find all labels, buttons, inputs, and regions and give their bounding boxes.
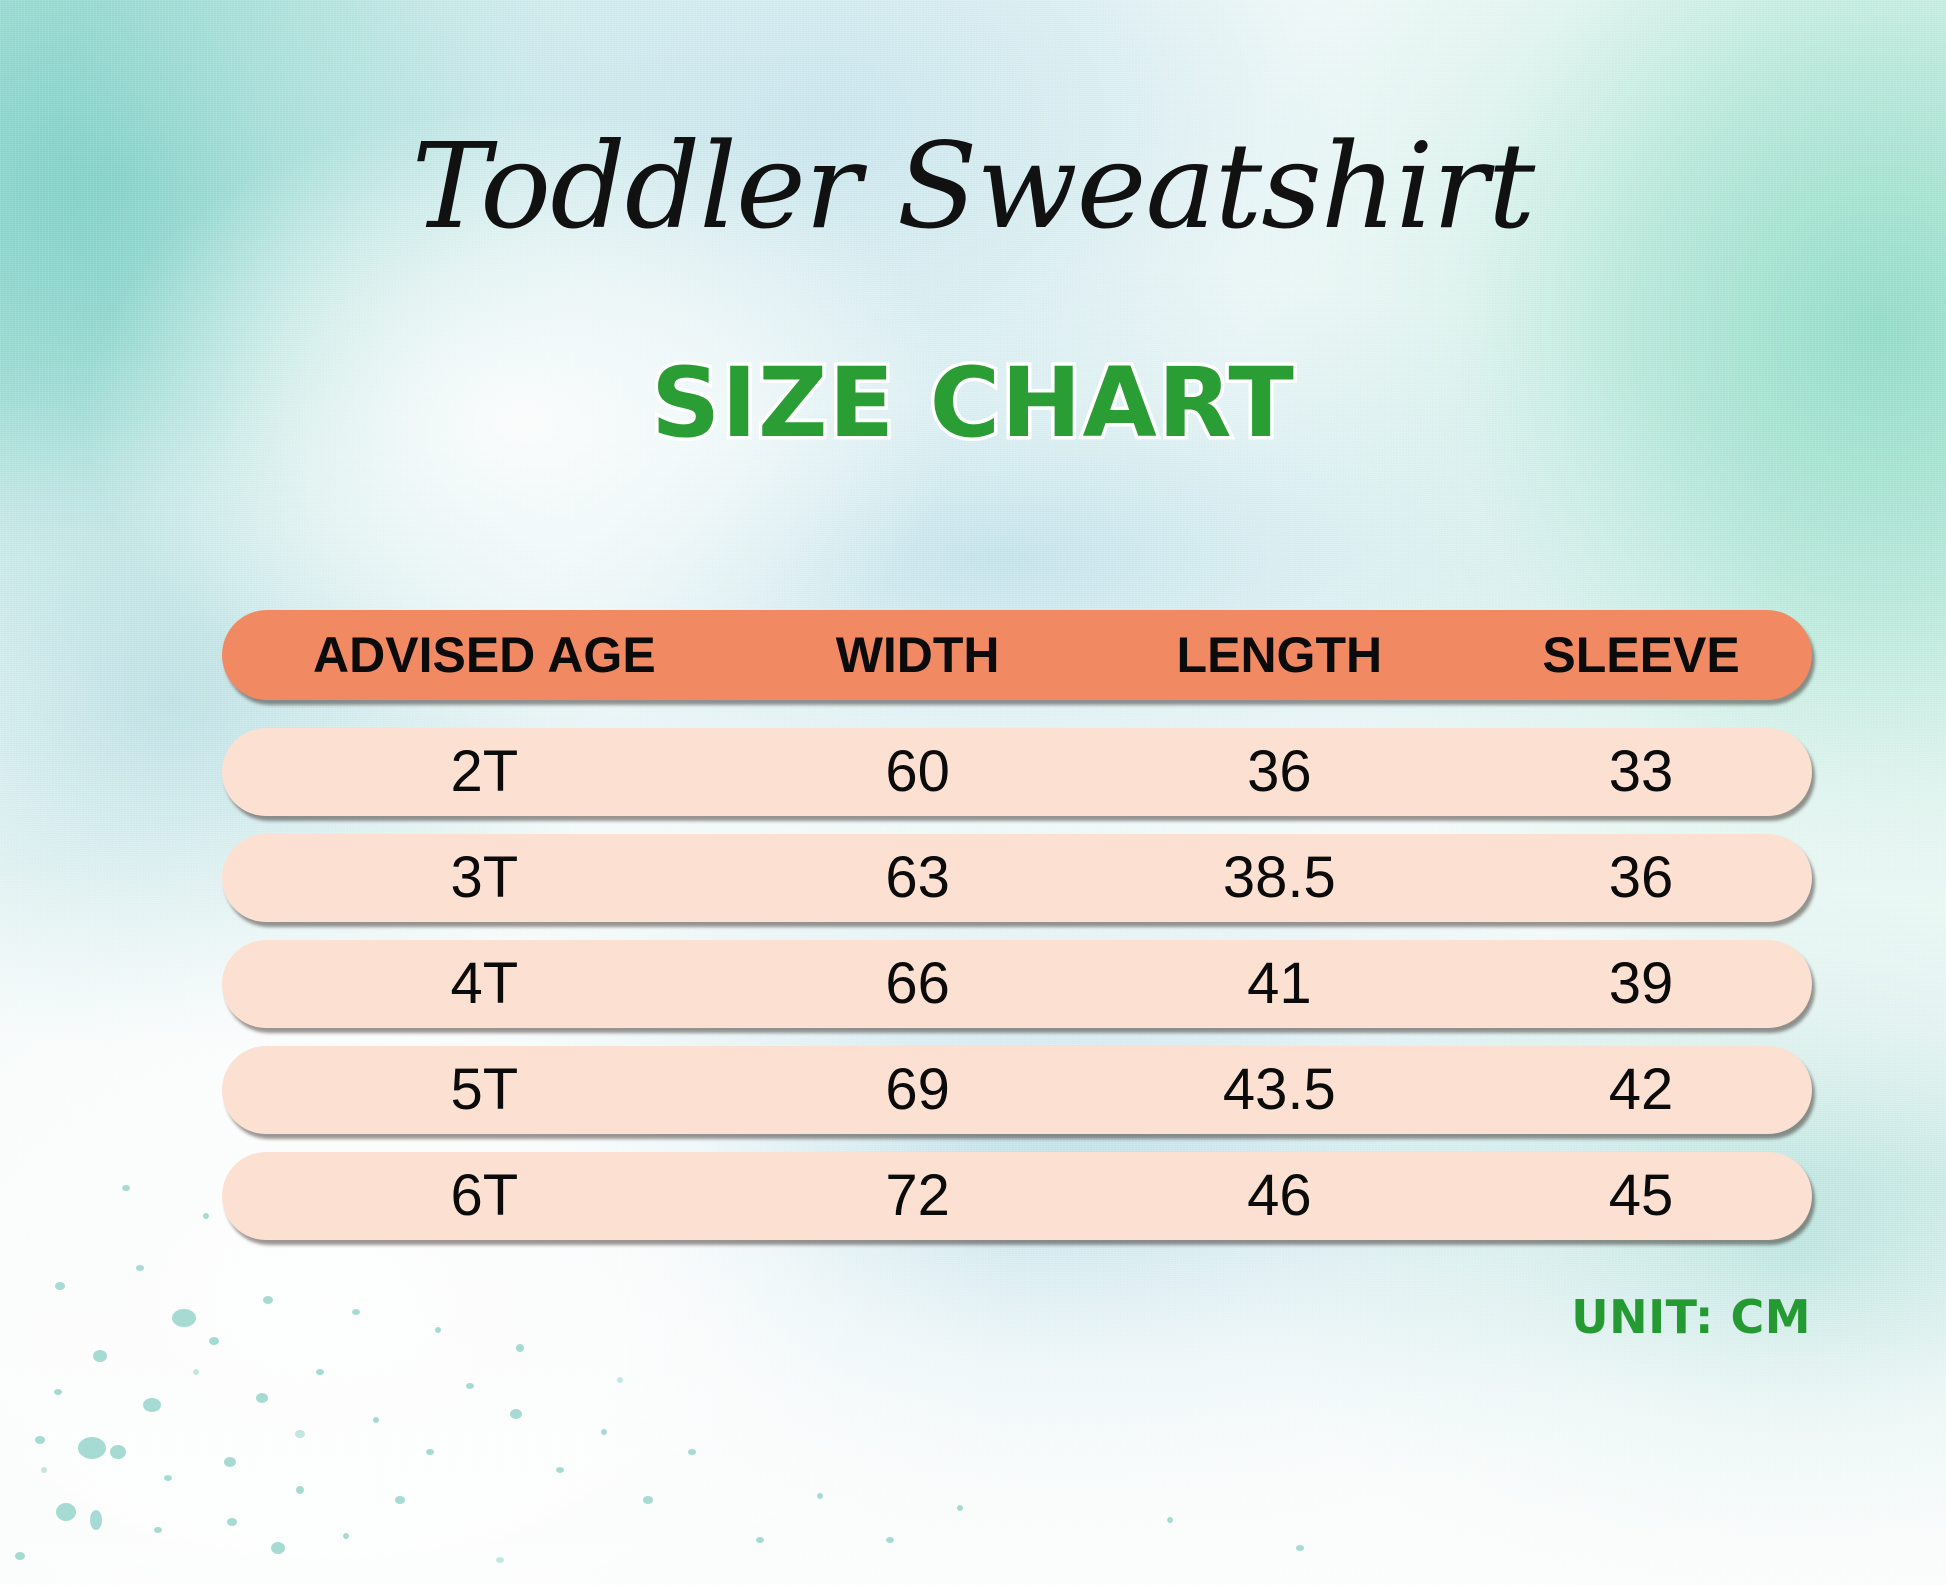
page-title: Toddler Sweatshirt xyxy=(0,125,1946,249)
cell-advised-age: 6T xyxy=(222,1167,747,1225)
table-row: 5T 69 43.5 42 xyxy=(222,1046,1812,1134)
cell-sleeve: 42 xyxy=(1470,1061,1812,1119)
cell-sleeve: 39 xyxy=(1470,955,1812,1013)
cell-advised-age: 5T xyxy=(222,1061,747,1119)
cell-length: 41 xyxy=(1089,955,1471,1013)
table-header-row: ADVISED AGE WIDTH LENGTH SLEEVE xyxy=(222,610,1812,700)
cell-length: 43.5 xyxy=(1089,1061,1471,1119)
cell-sleeve: 45 xyxy=(1470,1167,1812,1225)
cell-length: 38.5 xyxy=(1089,849,1471,907)
chart-content: Toddler Sweatshirt SIZE CHART ADVISED AG… xyxy=(0,0,1946,1585)
unit-note: UNIT: CM xyxy=(1571,1290,1811,1344)
cell-width: 72 xyxy=(747,1167,1089,1225)
table-row: 2T 60 36 33 xyxy=(222,728,1812,816)
cell-advised-age: 2T xyxy=(222,743,747,801)
size-chart-canvas: Toddler Sweatshirt SIZE CHART ADVISED AG… xyxy=(0,0,1946,1585)
cell-length: 36 xyxy=(1089,743,1471,801)
column-header-sleeve: SLEEVE xyxy=(1470,630,1812,680)
cell-sleeve: 33 xyxy=(1470,743,1812,801)
column-header-length: LENGTH xyxy=(1089,630,1471,680)
cell-length: 46 xyxy=(1089,1167,1471,1225)
cell-width: 69 xyxy=(747,1061,1089,1119)
table-row: 6T 72 46 45 xyxy=(222,1152,1812,1240)
size-chart-table: ADVISED AGE WIDTH LENGTH SLEEVE 2T 60 36… xyxy=(222,610,1812,1258)
column-header-width: WIDTH xyxy=(747,630,1089,680)
cell-width: 60 xyxy=(747,743,1089,801)
cell-advised-age: 3T xyxy=(222,849,747,907)
cell-sleeve: 36 xyxy=(1470,849,1812,907)
column-header-advised-age: ADVISED AGE xyxy=(222,630,747,680)
page-subtitle: SIZE CHART xyxy=(0,355,1946,451)
cell-width: 63 xyxy=(747,849,1089,907)
table-row: 3T 63 38.5 36 xyxy=(222,834,1812,922)
cell-width: 66 xyxy=(747,955,1089,1013)
table-row: 4T 66 41 39 xyxy=(222,940,1812,1028)
cell-advised-age: 4T xyxy=(222,955,747,1013)
